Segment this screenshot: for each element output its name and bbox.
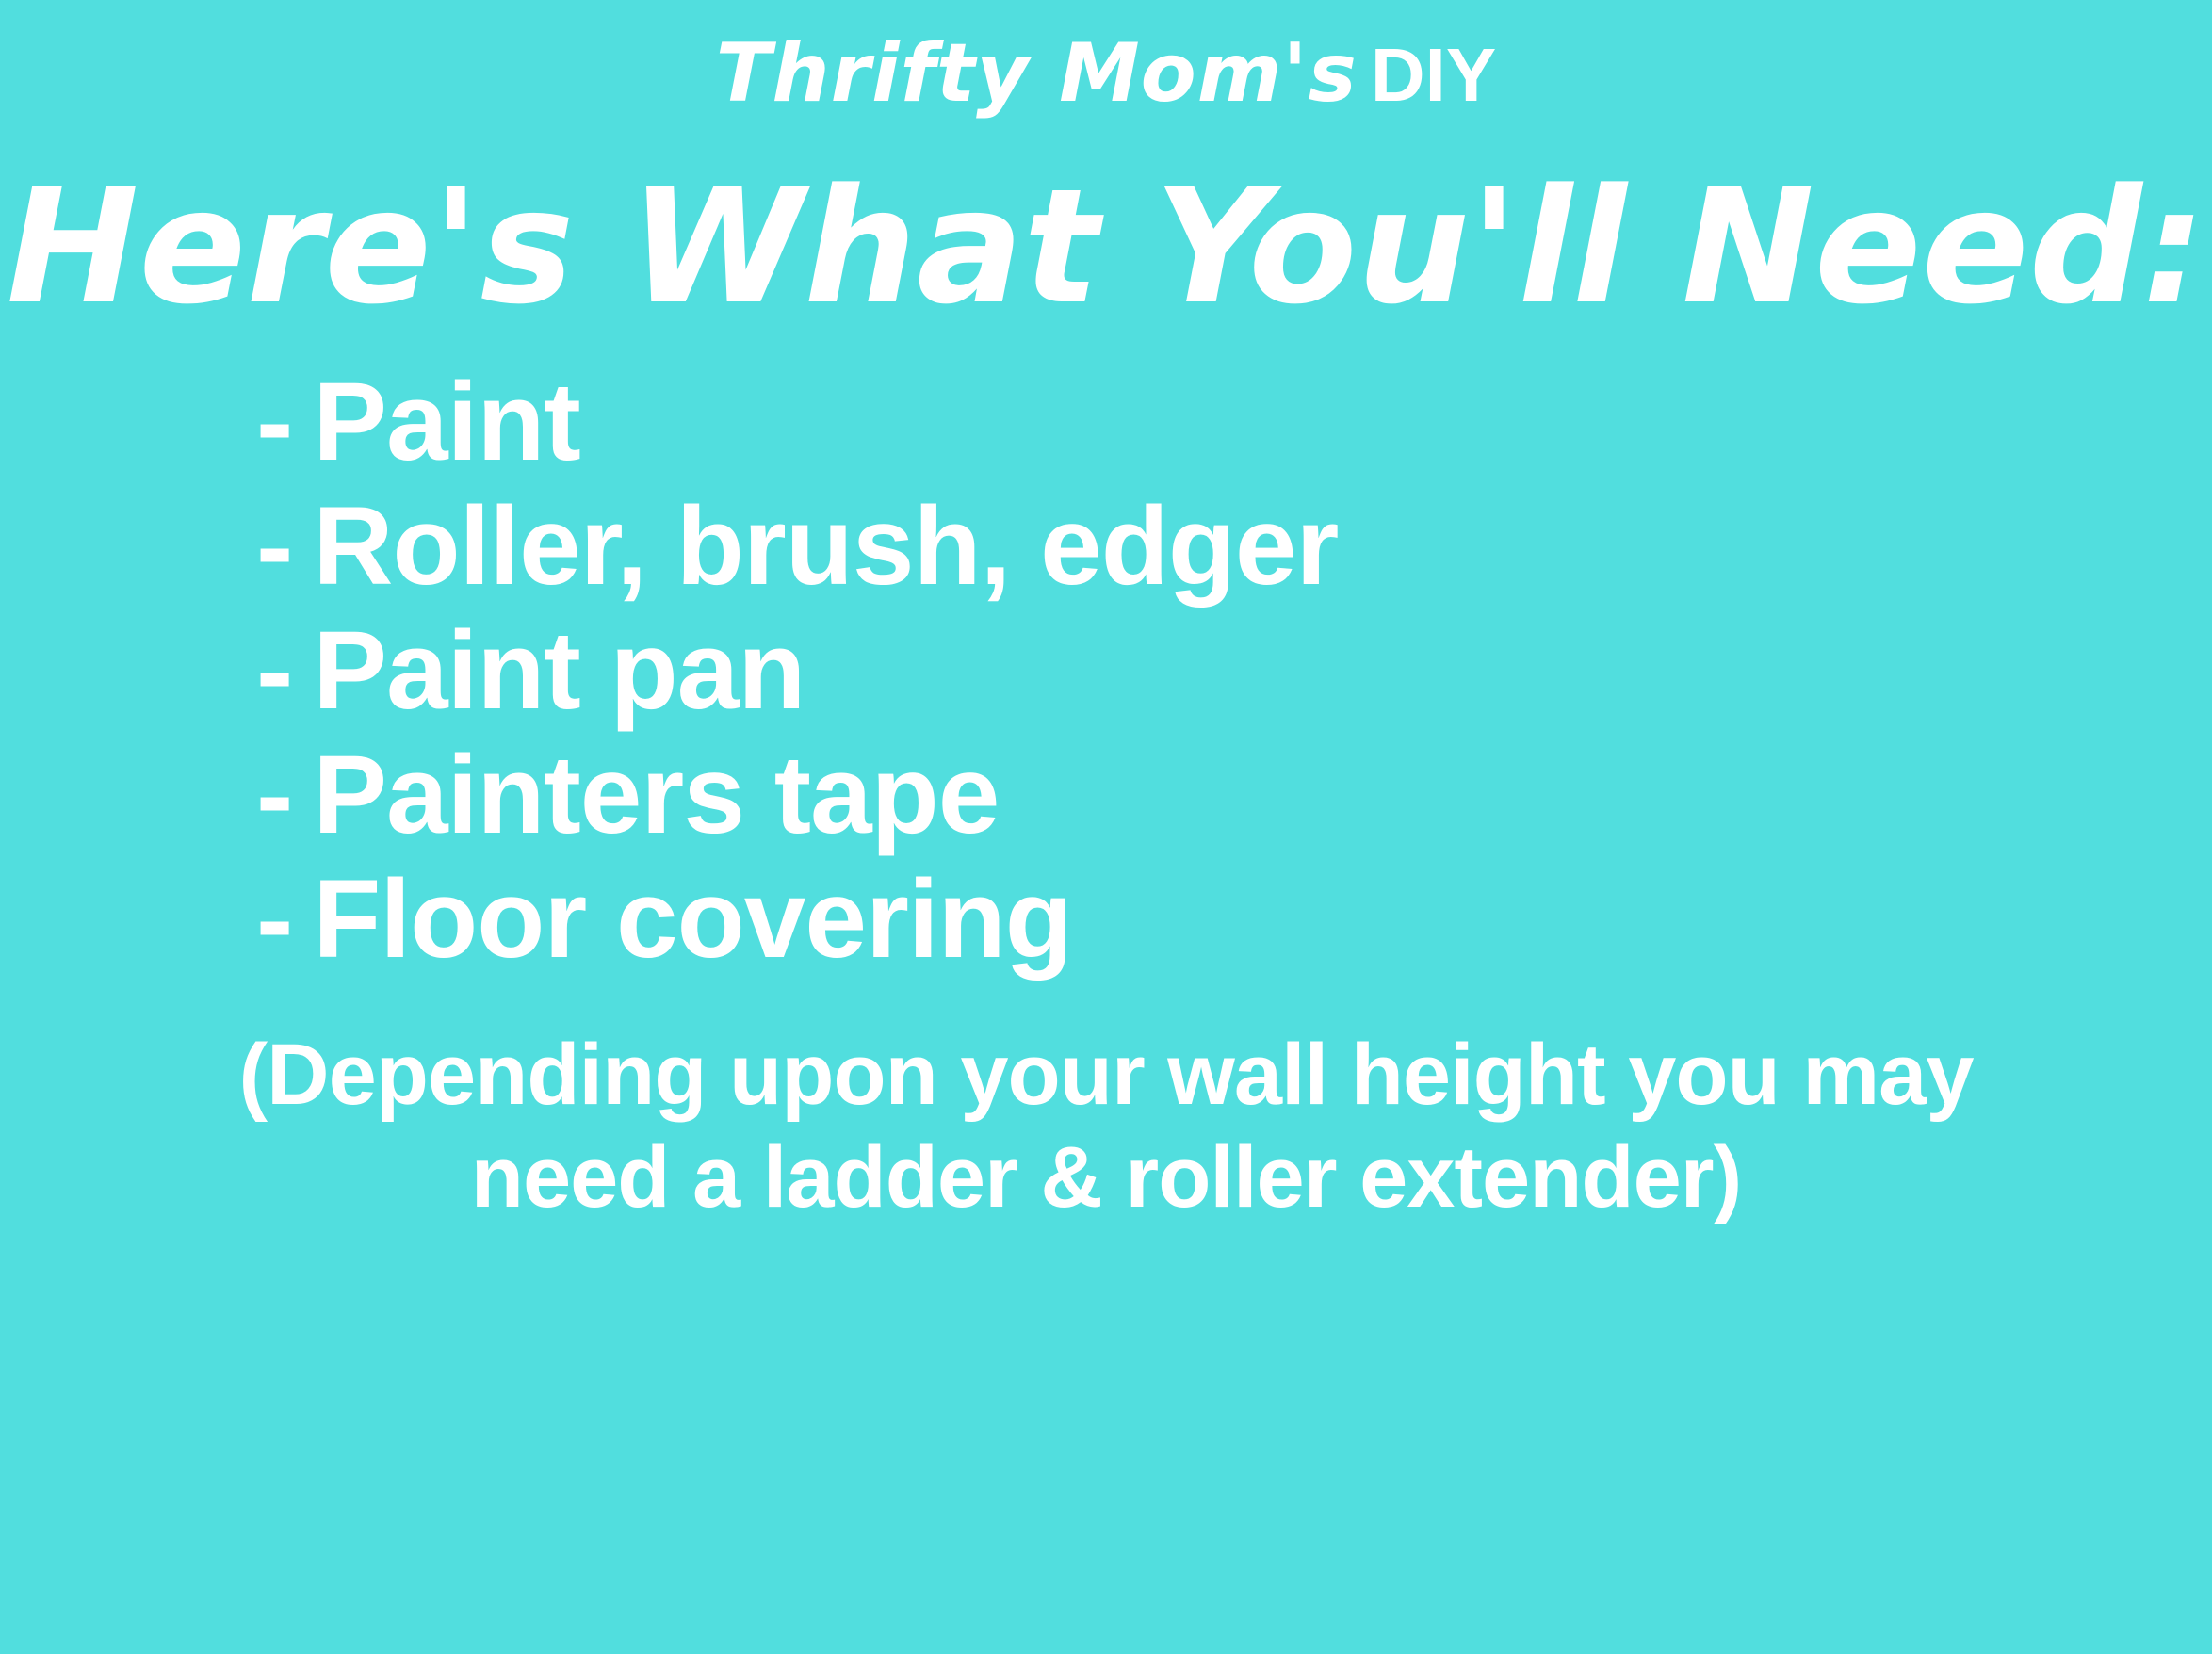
supply-list: -Paint -Roller, brush, edger -Paint pan … bbox=[0, 362, 2212, 982]
list-item: -Floor covering bbox=[0, 859, 2212, 981]
bullet-dash-icon: - bbox=[256, 735, 313, 857]
bullet-dash-icon: - bbox=[256, 486, 313, 608]
list-item: -Paint bbox=[0, 362, 2212, 484]
footnote-note: (Depending upon your wall height you may… bbox=[0, 1024, 2212, 1228]
brand-script-text: Thrifty Mom's bbox=[716, 26, 1358, 121]
brand-header: Thrifty Mom'sDIY bbox=[0, 17, 2212, 130]
bullet-dash-icon: - bbox=[256, 610, 313, 733]
list-item-label: Roller, brush, edger bbox=[313, 484, 1338, 608]
footnote-line-2: need a ladder & roller extender) bbox=[57, 1127, 2155, 1229]
bullet-dash-icon: - bbox=[256, 362, 313, 484]
list-item-label: Paint pan bbox=[313, 608, 805, 733]
list-item-label: Painters tape bbox=[313, 733, 999, 857]
list-item: -Painters tape bbox=[0, 735, 2212, 857]
list-item-label: Floor covering bbox=[313, 857, 1072, 981]
footnote-line-1: (Depending upon your wall height you may bbox=[57, 1024, 2155, 1127]
bullet-dash-icon: - bbox=[256, 859, 313, 981]
brand-diy-text: DIY bbox=[1358, 33, 1496, 117]
list-item: -Roller, brush, edger bbox=[0, 486, 2212, 608]
list-item: -Paint pan bbox=[0, 610, 2212, 733]
supply-list-poster: Thrifty Mom'sDIY Here's What You'll Need… bbox=[0, 0, 2212, 1654]
page-title: Here's What You'll Need: bbox=[0, 164, 2212, 330]
list-item-label: Paint bbox=[313, 360, 580, 484]
